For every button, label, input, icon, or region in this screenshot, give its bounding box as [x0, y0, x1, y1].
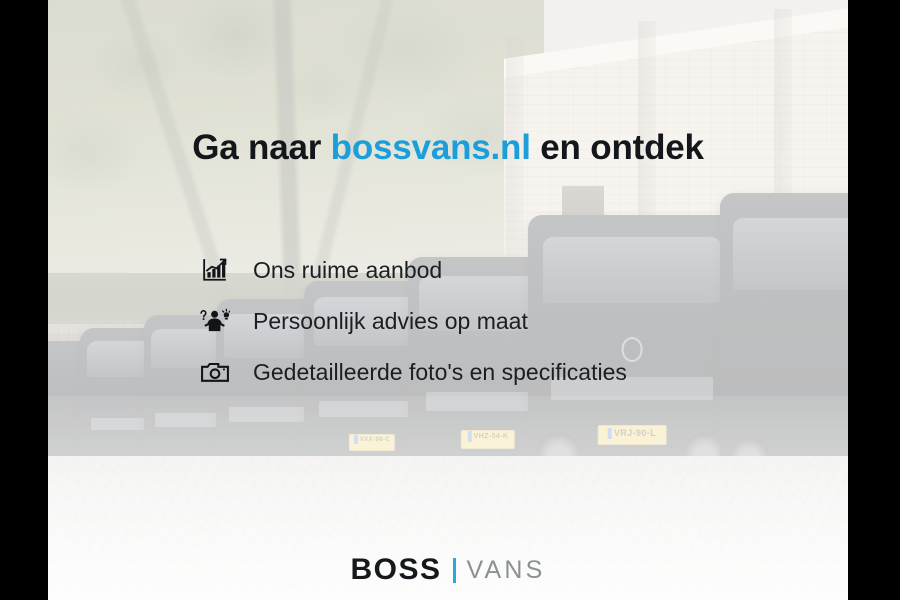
letterbox-bar-right — [848, 0, 900, 600]
logo-divider — [453, 558, 456, 583]
page-title: Ga naar bossvans.nl en ontdek — [48, 128, 848, 168]
headline-prefix: Ga naar — [192, 128, 330, 167]
personal-advice-icon — [200, 306, 230, 336]
letterbox-bar-left — [0, 0, 48, 600]
logo-brand-text: BOSS — [350, 555, 441, 585]
bar-chart-growth-icon — [200, 255, 230, 285]
slide-content: Ga naar bossvans.nl en ontdek Ons ruime … — [48, 0, 848, 600]
slide-canvas: VXX-98-C VHZ-54-K VRJ-90-L — [0, 0, 900, 600]
list-item: Gedetailleerde foto's en specificaties — [200, 357, 627, 387]
list-item-label: Ons ruime aanbod — [253, 257, 442, 284]
brand-logo: BOSS VANS — [48, 555, 848, 585]
logo-sub-text: VANS — [467, 558, 546, 583]
camera-icon — [200, 357, 230, 387]
headline-suffix: en ontdek — [531, 128, 704, 167]
list-item: Persoonlijk advies op maat — [200, 306, 627, 336]
list-item-label: Gedetailleerde foto's en specificaties — [253, 359, 627, 386]
feature-list: Ons ruime aanbod — [200, 255, 627, 387]
list-item: Ons ruime aanbod — [200, 255, 627, 285]
headline-accent-domain: bossvans.nl — [331, 128, 531, 167]
list-item-label: Persoonlijk advies op maat — [253, 308, 528, 335]
